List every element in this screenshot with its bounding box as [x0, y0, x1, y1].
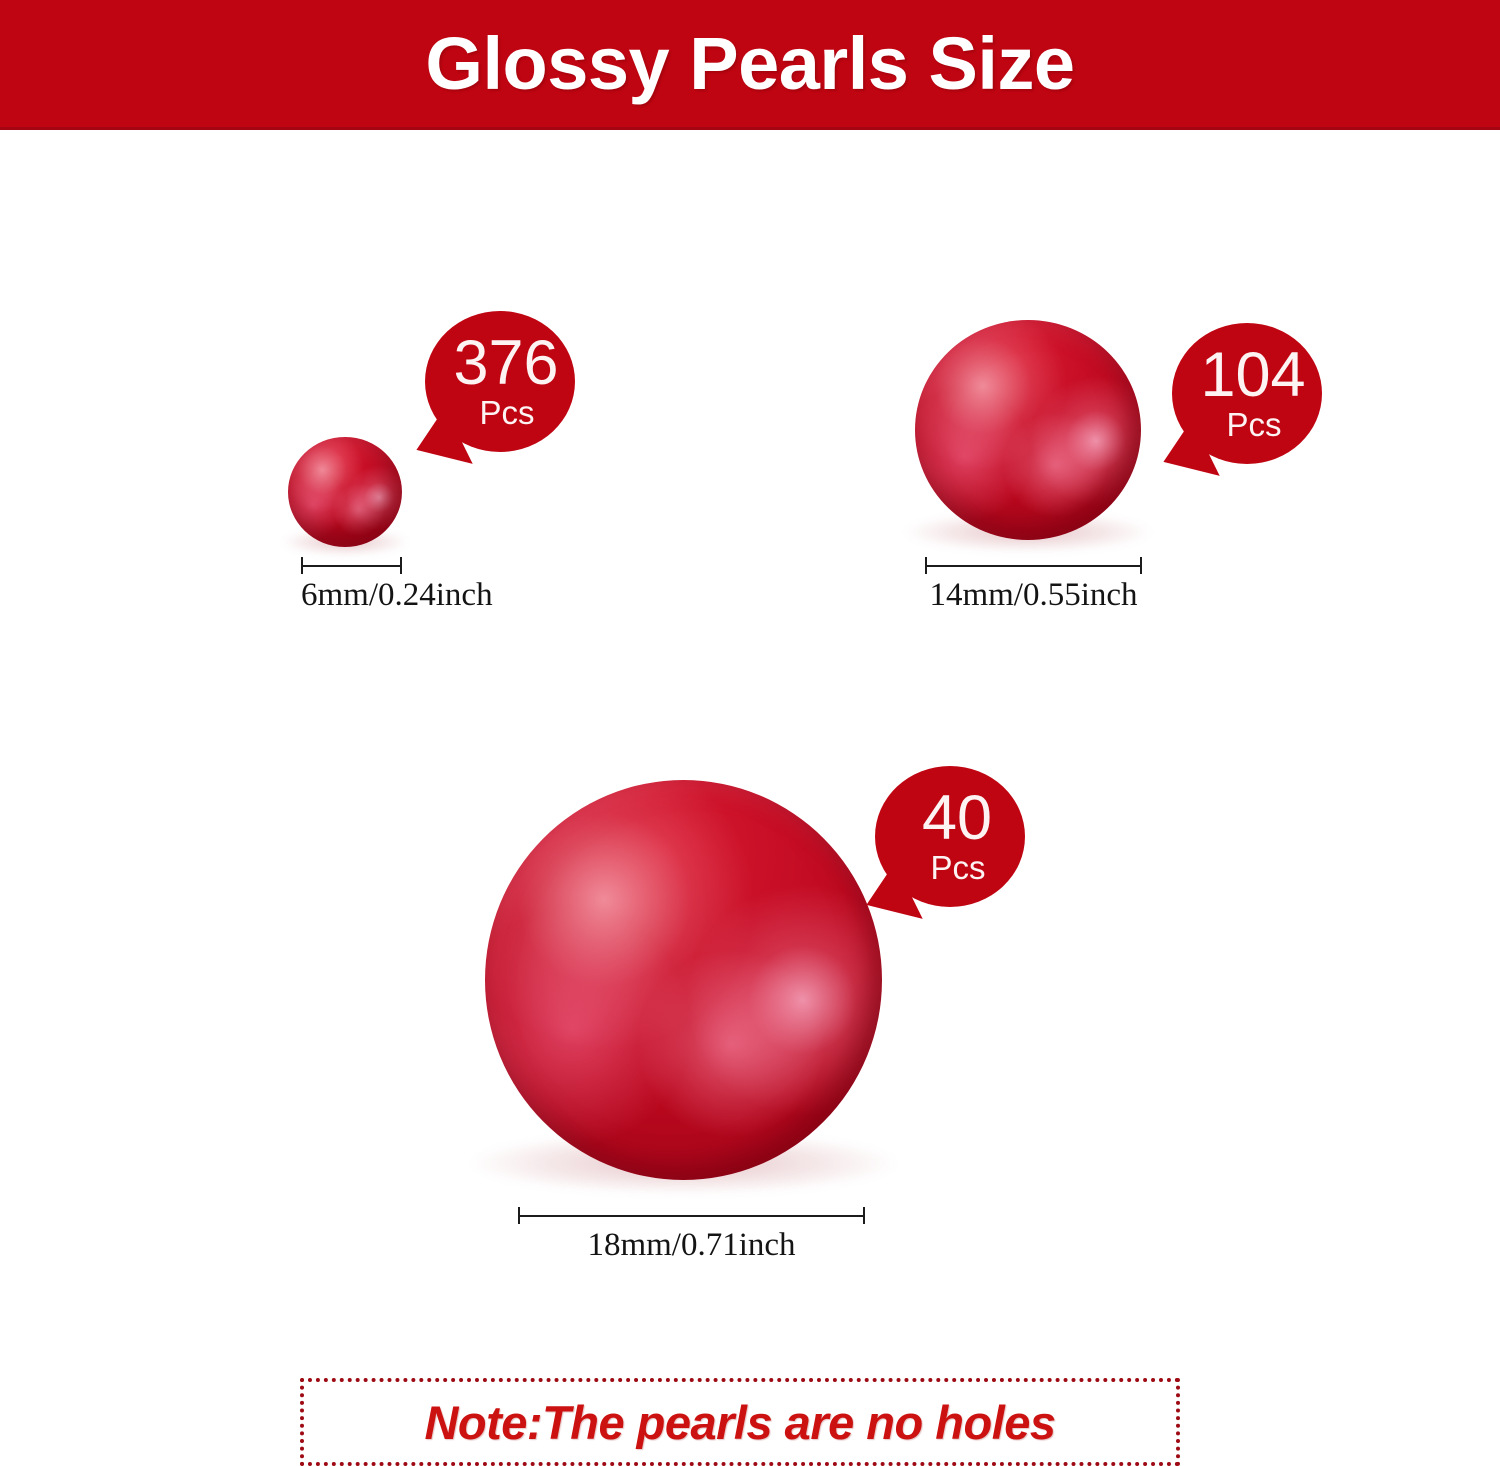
dimension-cap-left-small — [301, 557, 303, 574]
pearl-small — [288, 437, 402, 547]
count-bubble-large-unit: Pcs — [930, 851, 985, 884]
count-bubble-large: 40 Pcs — [875, 766, 1025, 907]
count-bubble-small-unit: Pcs — [479, 396, 534, 429]
note-box: Note:The pearls are no holes — [300, 1378, 1180, 1466]
dimension-cap-left-medium — [925, 557, 927, 574]
pearl-medium — [915, 320, 1141, 540]
pearl-large — [485, 780, 882, 1180]
count-bubble-small: 376 Pcs — [425, 311, 575, 452]
page-title: Glossy Pearls Size — [425, 27, 1074, 101]
dimension-cap-right-large — [863, 1207, 865, 1224]
count-bubble-medium: 104 Pcs — [1172, 323, 1322, 464]
count-bubble-medium-unit: Pcs — [1226, 408, 1281, 441]
dimension-line-small — [301, 565, 402, 567]
pearl-group-small — [288, 437, 402, 547]
count-bubble-medium-value: 104 — [1200, 346, 1305, 406]
product-size-infographic: Glossy Pearls Size 376 Pcs 6mm/0.24inch … — [0, 0, 1500, 1466]
pearl-group-large — [485, 780, 882, 1180]
pearl-group-medium — [915, 320, 1141, 540]
dimension-cap-left-large — [518, 1207, 520, 1224]
dimension-cap-right-small — [400, 557, 402, 574]
count-bubble-small-value: 376 — [453, 334, 558, 394]
dimension-label-large: 18mm/0.71inch — [518, 1227, 865, 1264]
dimension-label-small: 6mm/0.24inch — [301, 577, 402, 614]
dimension-bar-small — [301, 557, 402, 574]
dimension-bar-medium — [925, 557, 1142, 574]
note-text: Note:The pearls are no holes — [424, 1395, 1055, 1450]
dimension-line-medium — [925, 565, 1142, 567]
dimension-cap-right-medium — [1140, 557, 1142, 574]
dimension-bar-large — [518, 1207, 865, 1224]
dimension-line-large — [518, 1215, 865, 1217]
header-banner: Glossy Pearls Size — [0, 0, 1500, 130]
dimension-label-medium: 14mm/0.55inch — [925, 577, 1142, 614]
count-bubble-large-value: 40 — [922, 789, 992, 849]
